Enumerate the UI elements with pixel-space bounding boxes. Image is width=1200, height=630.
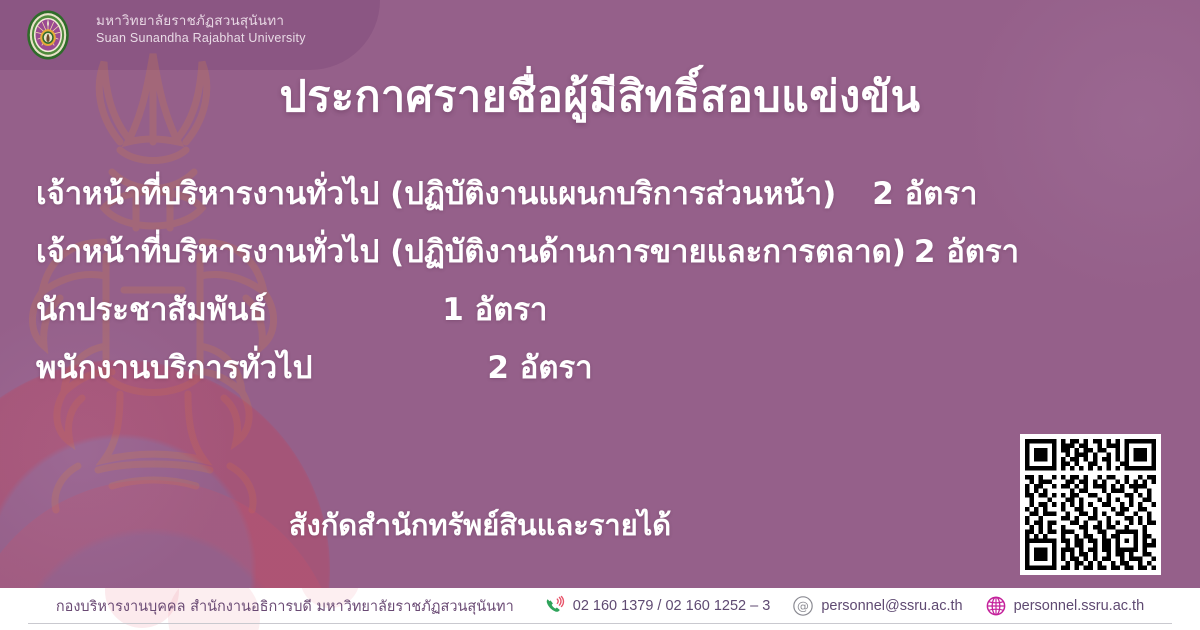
list-item: เจ้าหน้าที่บริหารงานทั่วไป (ปฏิบัติงานด้… — [36, 226, 1181, 284]
announcement-poster: มหาวิทยาลัยราชภัฏสวนสุนันทา Suan Sunandh… — [0, 0, 1200, 630]
at-sign-icon: @ — [792, 595, 814, 617]
footer-website-text: personnel.ssru.ac.th — [1014, 598, 1145, 614]
footer-website[interactable]: personnel.ssru.ac.th — [985, 595, 1145, 617]
footer-office-text: กองบริหารงานบุคคล สำนักงานอธิการบดี มหาว… — [56, 595, 514, 618]
phone-ringing-icon — [544, 595, 566, 617]
list-item: พนักงานบริการทั่วไป 2 อัตรา — [36, 342, 1181, 400]
position-count: 1 อัตรา — [442, 284, 547, 334]
position-name: นักประชาสัมพันธ์ — [36, 284, 267, 334]
university-name-en: Suan Sunandha Rajabhat University — [96, 30, 306, 47]
position-count: 2 อัตรา — [914, 226, 1019, 276]
position-name: พนักงานบริการทั่วไป — [36, 342, 312, 392]
poster-footer: กองบริหารงานบุคคล สำนักงานอธิการบดี มหาว… — [0, 588, 1200, 630]
footer-contact-line: กองบริหารงานบุคคล สำนักงานอธิการบดี มหาว… — [0, 588, 1200, 624]
list-item: นักประชาสัมพันธ์ 1 อัตรา — [36, 284, 1181, 342]
poster-header: มหาวิทยาลัยราชภัฏสวนสุนันทา Suan Sunandh… — [0, 0, 1200, 62]
globe-icon — [985, 595, 1007, 617]
university-names: มหาวิทยาลัยราชภัฏสวนสุนันทา Suan Sunandh… — [96, 12, 306, 47]
position-count: 2 อัตรา — [872, 168, 977, 218]
footer-phone[interactable]: 02 160 1379 / 02 160 1252 – 3 — [544, 595, 771, 617]
list-item: เจ้าหน้าที่บริหารงานทั่วไป (ปฏิบัติงานแผ… — [36, 168, 1181, 226]
footer-email-text: personnel@ssru.ac.th — [821, 598, 962, 614]
position-name: เจ้าหน้าที่บริหารงานทั่วไป (ปฏิบัติงานด้… — [36, 226, 906, 276]
position-name: เจ้าหน้าที่บริหารงานทั่วไป (ปฏิบัติงานแผ… — [36, 168, 836, 218]
page-title: ประกาศรายชื่อผู้มีสิทธิ์สอบแข่งขัน — [0, 62, 1200, 130]
position-count: 2 อัตรา — [487, 342, 592, 392]
ssru-seal-icon — [22, 9, 74, 61]
svg-text:@: @ — [797, 599, 809, 613]
affiliation-text: สังกัดสำนักทรัพย์สินและรายได้ — [0, 502, 960, 548]
footer-divider — [28, 623, 1172, 624]
footer-email[interactable]: @ personnel@ssru.ac.th — [792, 595, 962, 617]
university-name-th: มหาวิทยาลัยราชภัฏสวนสุนันทา — [96, 12, 306, 30]
footer-phone-text: 02 160 1379 / 02 160 1252 – 3 — [573, 598, 771, 614]
footer-office: กองบริหารงานบุคคล สำนักงานอธิการบดี มหาว… — [56, 595, 514, 618]
position-list: เจ้าหน้าที่บริหารงานทั่วไป (ปฏิบัติงานแผ… — [36, 168, 1181, 400]
qr-code[interactable] — [1020, 434, 1161, 575]
